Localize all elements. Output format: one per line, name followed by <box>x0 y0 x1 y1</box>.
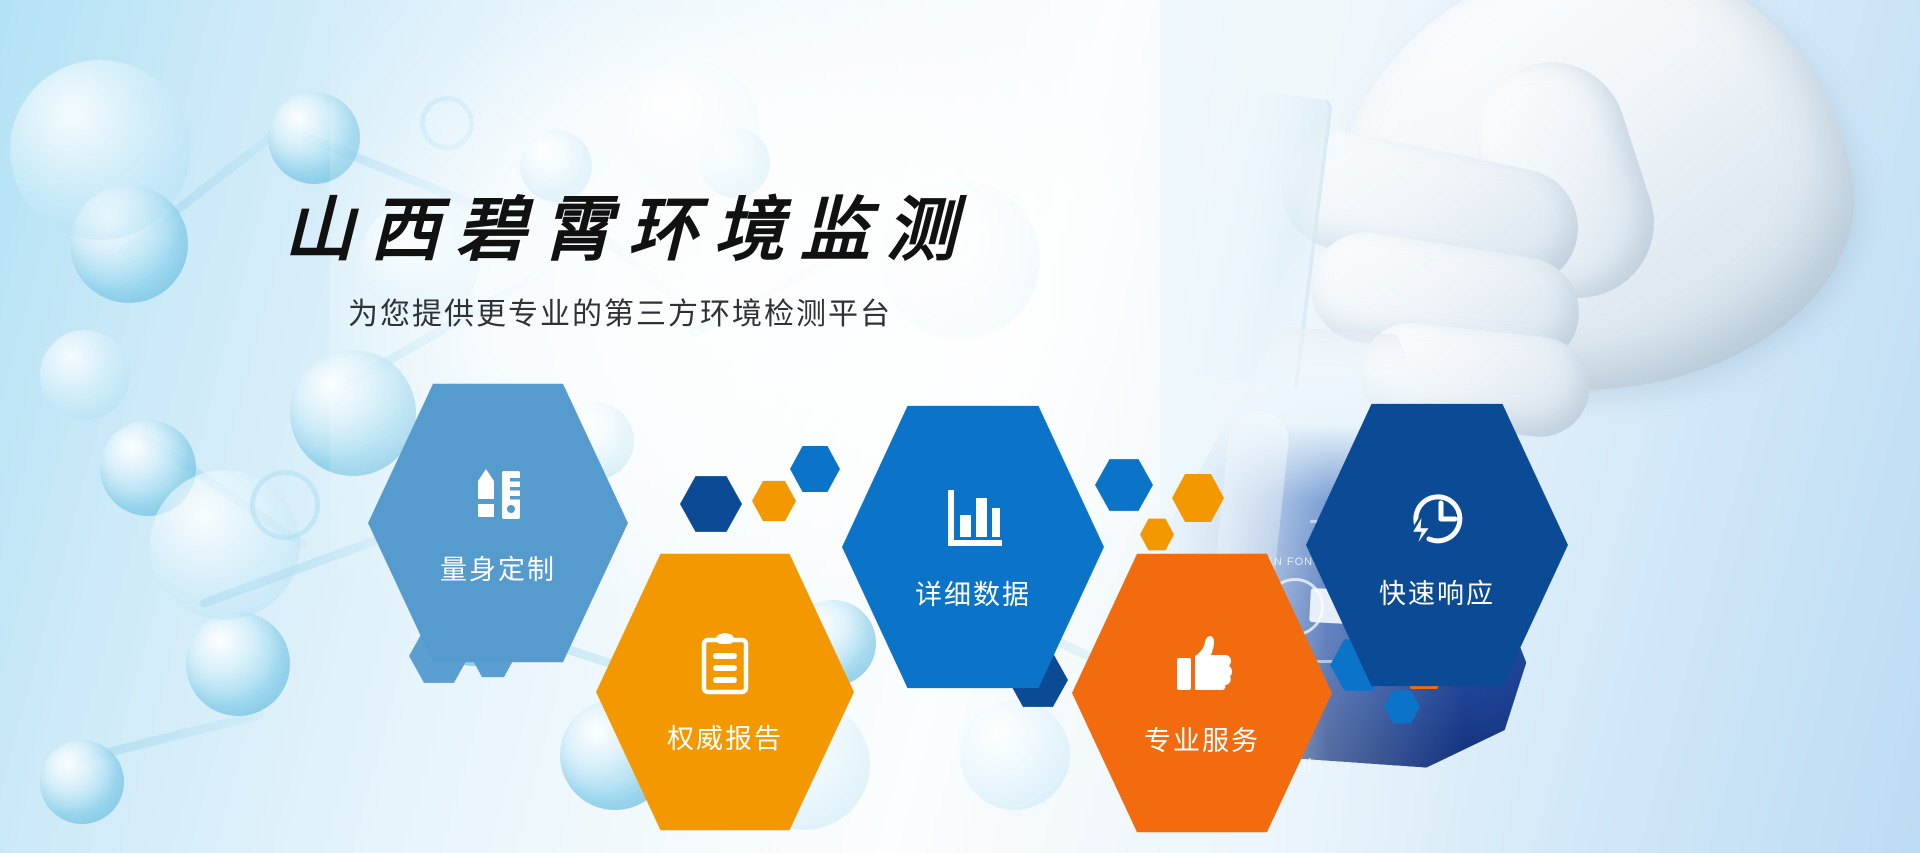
feature-label: 量身定制 <box>440 548 556 587</box>
title-block: 山西碧霄环境监测 为您提供更专业的第三方环境检测平台 <box>0 190 1240 333</box>
molecule-node <box>186 612 290 716</box>
bubble <box>620 60 760 200</box>
clipboard-icon <box>689 628 761 705</box>
bubble <box>960 700 1070 810</box>
feature-label: 快速响应 <box>1379 572 1495 611</box>
pencil-ruler-icon <box>462 459 534 536</box>
page-subtitle: 为您提供更专业的第三方环境检测平台 <box>0 289 1240 333</box>
bar-chart-icon <box>936 482 1010 561</box>
bubble-ring <box>250 470 320 540</box>
molecule-node <box>40 740 124 824</box>
feature-label: 专业服务 <box>1144 719 1260 758</box>
bubble-ring <box>420 96 474 150</box>
thumbs-up-icon <box>1165 628 1239 707</box>
molecule-node <box>268 92 360 184</box>
promo-banner: 100 50 125ml YAN FONG 山西碧霄环境监测 为您提供更专业的第… <box>0 0 1920 853</box>
feature-label: 权威报告 <box>667 717 783 756</box>
bubble <box>40 330 130 420</box>
molecule-node <box>290 350 416 476</box>
page-title: 山西碧霄环境监测 <box>0 190 1240 271</box>
clock-bolt-icon <box>1399 479 1475 560</box>
feature-label: 详细数据 <box>915 573 1031 612</box>
